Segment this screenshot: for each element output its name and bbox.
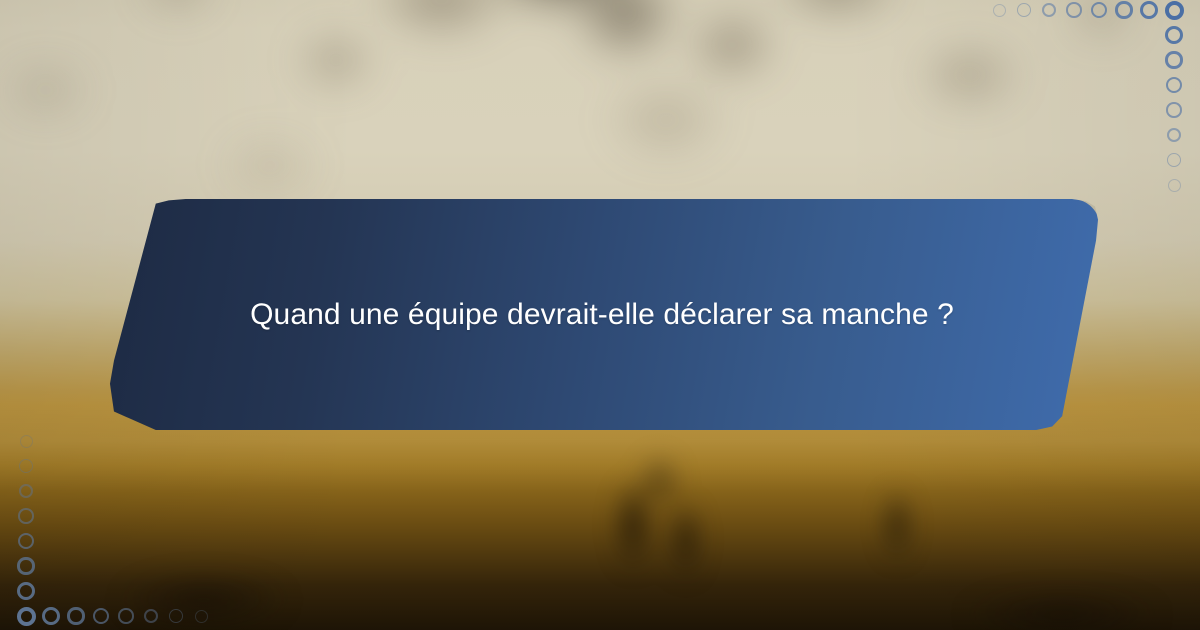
social-card-canvas: Quand une équipe devrait-elle déclarer s… bbox=[0, 0, 1200, 630]
question-text: Quand une équipe devrait-elle déclarer s… bbox=[222, 287, 982, 343]
question-card: Quand une équipe devrait-elle déclarer s… bbox=[104, 199, 1100, 430]
question-card-content: Quand une équipe devrait-elle déclarer s… bbox=[222, 287, 982, 343]
